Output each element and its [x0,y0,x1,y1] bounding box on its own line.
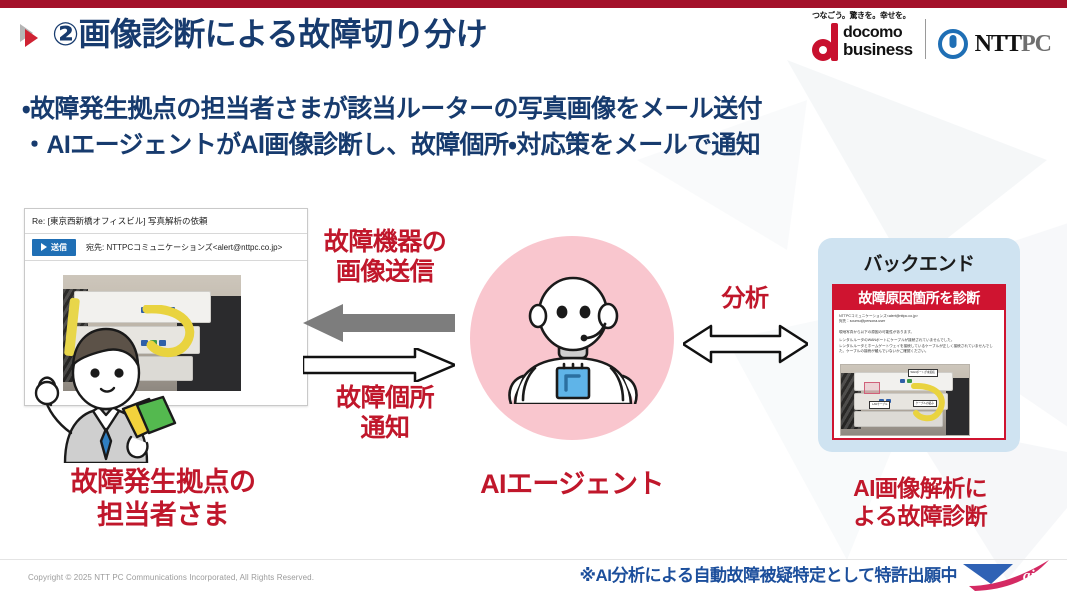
photo-highlight-box [864,382,880,394]
ai-swoosh-logo-icon: ai [961,558,1053,592]
nttpc-wordmark: NTTPC [975,31,1051,58]
analyze-label: 分析 [690,278,800,313]
patent-note: ※AI分析による自動故障被疑特定として特許出願中 [579,561,957,586]
triangle-bullet-icon [18,22,44,46]
email-toolbar: 送信 宛先: NTTPCコミュニケーションズ<alert@nttpc.co.jp… [25,234,307,261]
docomo-tagline: つなごう。驚きを。幸せを。 [812,10,910,21]
logo-divider [925,19,926,59]
email-recipient: 宛先: NTTPCコミュニケーションズ<alert@nttpc.co.jp> [86,242,282,253]
send-image-label: 故障機器の画像送信 [300,228,470,287]
ntt-circle-icon [938,29,968,59]
play-icon [41,243,47,251]
photo-callout-3: ケーブルの緩み [913,400,937,407]
arrow-left-gray-icon [303,304,455,342]
email-subject: Re: [東京西新橋オフィスビル] 写真解析の依頼 [25,209,307,234]
ai-agent-label: AIエージェント [450,462,694,501]
backend-annotated-photo: WANポートが未接続 LANケーブル ケーブルの緩み [840,364,970,436]
caption-right: AI画像解析による故障診断 [800,474,1040,530]
top-accent-bar [0,0,1067,8]
lead-bullet-1: ・故障発生拠点の担当者さまが該当ルーターの写真画像をメール送付 [22,92,762,128]
arrow-double-outline-icon [683,322,808,366]
notify-location-label: 故障個所通知 [300,384,470,443]
business-wordmark: business [843,41,913,58]
copyright-text: Copyright © 2025 NTT PC Communications I… [28,573,314,582]
docomo-d-mark-icon [812,23,838,61]
lead-bullets: ・故障発生拠点の担当者さまが該当ルーターの写真画像をメール送付 ・AIエージェン… [22,92,762,163]
svg-text:ai: ai [1023,568,1036,584]
photo-callout-2: LANケーブル [869,401,890,408]
email-mockup: Re: [東京西新橋オフィスビル] 写真解析の依頼 送信 宛先: NTTPCコミ… [24,208,308,406]
page-title-text: ②画像診断による故障切り分け [52,18,487,50]
email-body [25,261,307,405]
backend-email-card: 故障原因箇所を診断 NTTPCコミュニケーションズ<alert@nttpc.co… [832,284,1006,440]
slide-root: ②画像診断による故障切り分け つなごう。驚きを。幸せを。 docomo busi… [0,0,1067,600]
send-button-label: 送信 [51,242,67,253]
logo-group: つなごう。驚きを。幸せを。 docomo business NTTPC [812,10,1051,61]
backend-body-lead: 現地写真から以下の原因の可能性があります。 [839,330,999,335]
send-button[interactable]: 送信 [32,239,76,256]
backend-body-line-3: た。ケーブルの接続が緩んでいないかご確認ください。 [839,349,999,354]
docomo-wordmark: docomo [843,25,913,41]
staff-illustration [31,313,181,463]
footer-divider [0,559,1067,560]
page-title: ②画像診断による故障切り分け [18,18,487,50]
lead-bullet-2: ・AIエージェントがAI画像診断し、故障個所・対応策をメールで通知 [22,128,762,164]
arrow-right-outline-icon [303,348,455,382]
photo-callout-1: WANポートが未接続 [908,369,938,376]
backend-diagnosis-banner: 故障原因箇所を診断 [834,286,1004,310]
backend-title: バックエンド [818,249,1020,276]
docomo-business-logo: つなごう。驚きを。幸せを。 docomo business [812,10,925,61]
backend-email-to: 宛先：soumu@persona.user [839,319,999,324]
nttpc-logo: NTTPC [938,29,1051,61]
caption-left: 故障発生拠点の担当者さま [8,466,318,532]
ai-agent-robot-icon [505,272,641,404]
